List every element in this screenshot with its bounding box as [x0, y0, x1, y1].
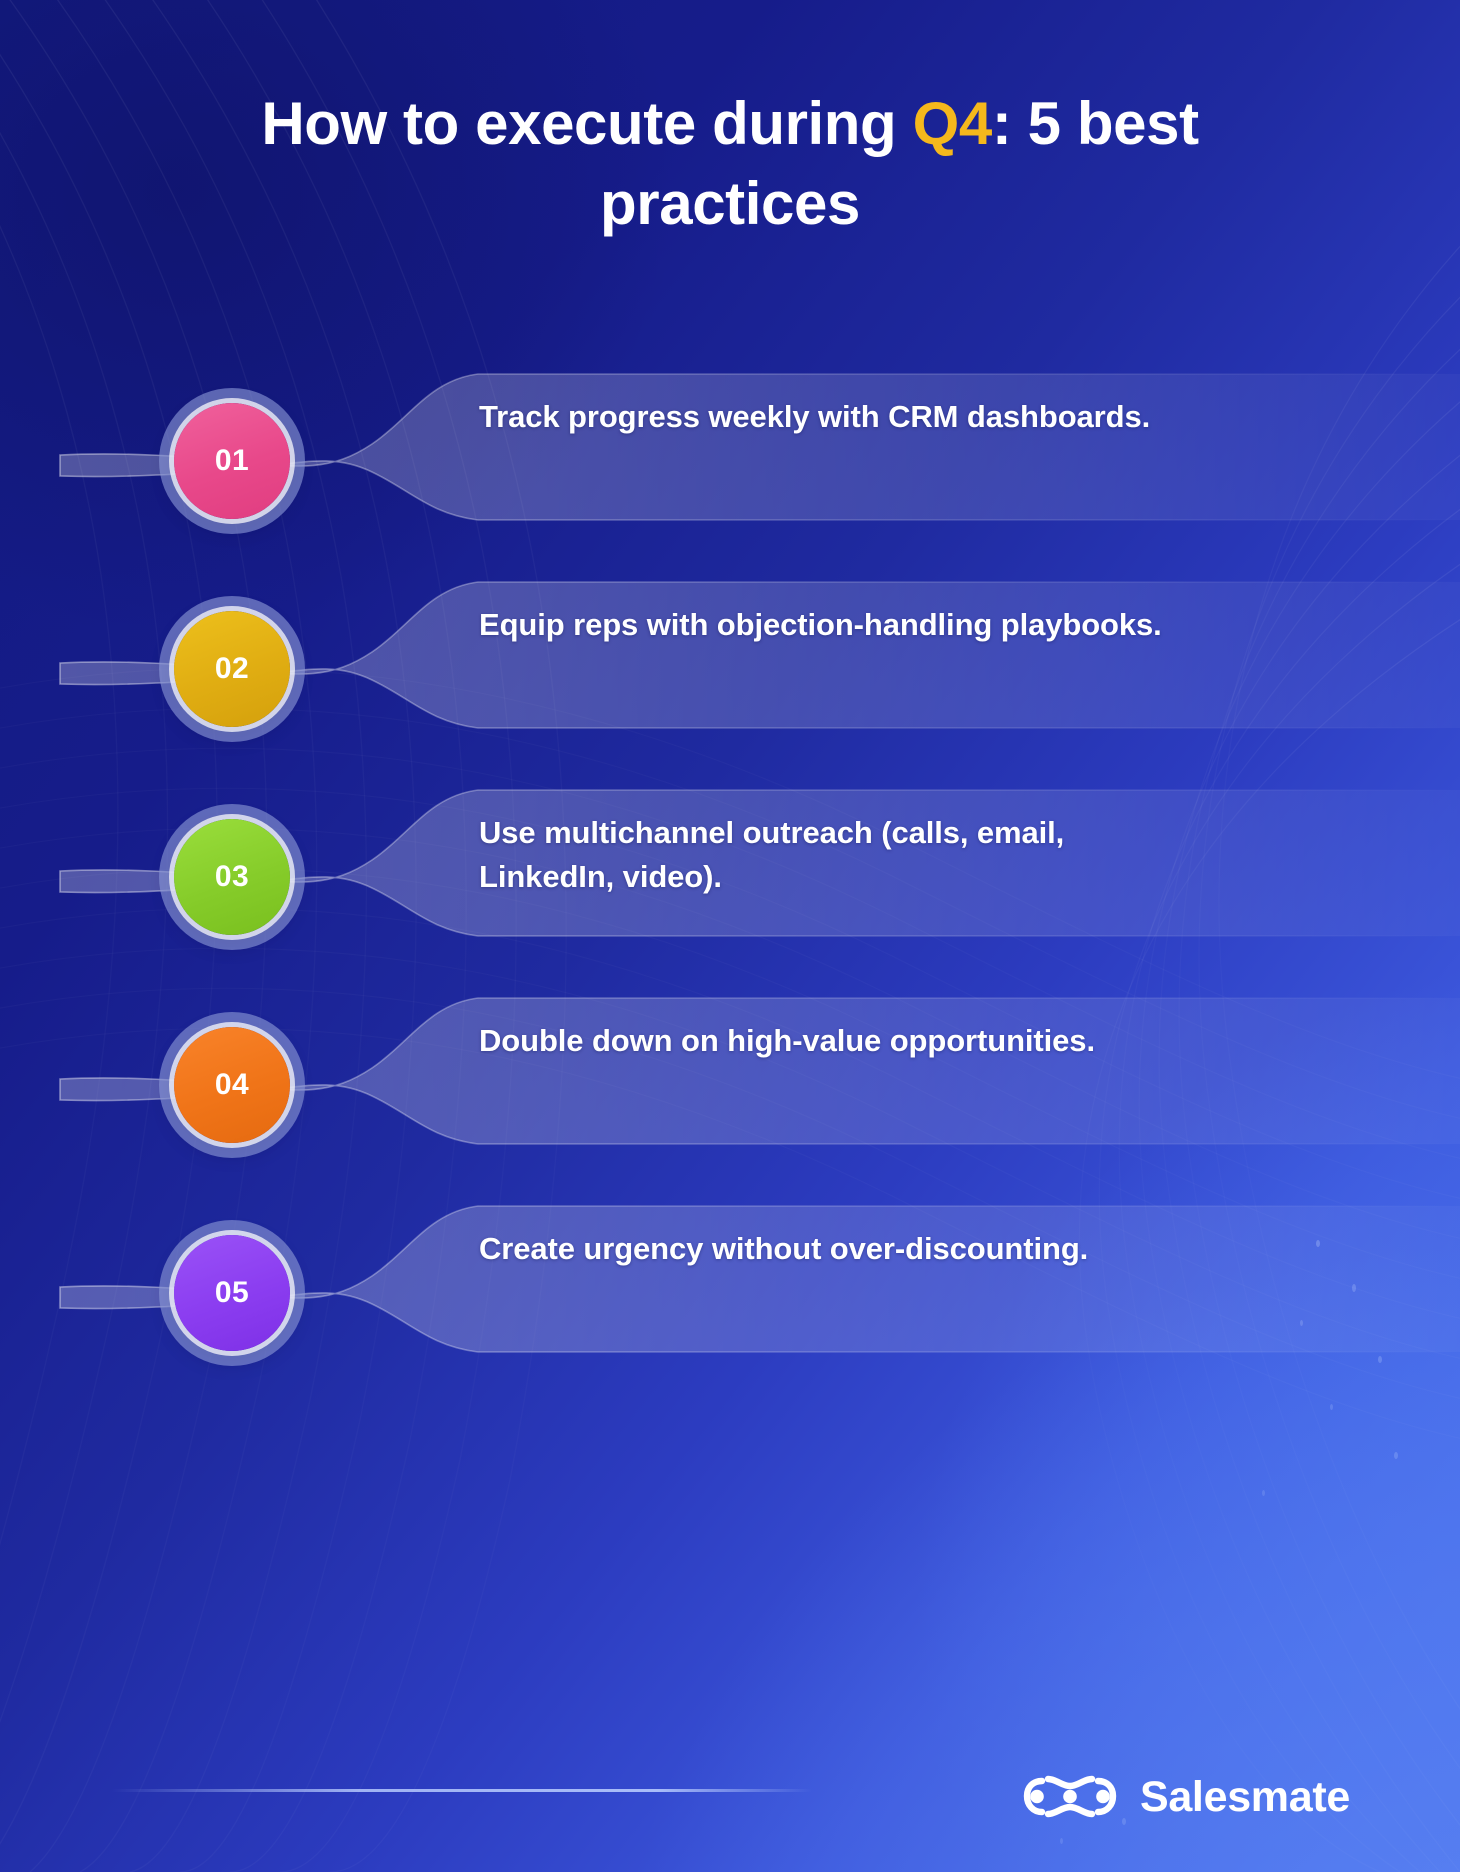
step-number-02: 02	[215, 652, 249, 686]
infographic-canvas: How to execute during Q4: 5 best practic…	[0, 0, 1460, 1872]
step-number-04: 04	[215, 1068, 249, 1102]
step-text-03: Use multichannel outreach (calls, email,…	[479, 811, 1179, 899]
step-badge-04[interactable]: 04	[174, 1027, 290, 1143]
step-text-02: Equip reps with objection-handling playb…	[479, 603, 1179, 647]
list-item[interactable]: 01 Track progress weekly with CRM dashbo…	[0, 360, 1460, 600]
step-badge-05[interactable]: 05	[174, 1235, 290, 1351]
step-number-05: 05	[215, 1276, 249, 1310]
step-number-01: 01	[215, 444, 249, 478]
list-item[interactable]: 05 Create urgency without over-discounti…	[0, 1192, 1460, 1432]
step-text-01: Track progress weekly with CRM dashboard…	[479, 395, 1179, 439]
step-text-05: Create urgency without over-discounting.	[479, 1227, 1179, 1271]
salesmate-chain-dots-logo-icon	[1022, 1770, 1118, 1824]
list-item[interactable]: 02 Equip reps with objection-handling pl…	[0, 568, 1460, 808]
step-text-04: Double down on high-value opportunities.	[479, 1019, 1179, 1063]
step-badge-01[interactable]: 01	[174, 403, 290, 519]
step-number-03: 03	[215, 860, 249, 894]
step-badge-02[interactable]: 02	[174, 611, 290, 727]
footer-divider	[112, 1789, 812, 1792]
list-item[interactable]: 03 Use multichannel outreach (calls, ema…	[0, 776, 1460, 1016]
list-item[interactable]: 04 Double down on high-value opportuniti…	[0, 984, 1460, 1224]
brand-logo[interactable]: Salesmate	[1022, 1770, 1350, 1824]
steps-list: 01 Track progress weekly with CRM dashbo…	[0, 0, 1460, 1872]
brand-name-text: Salesmate	[1140, 1773, 1350, 1822]
step-badge-03[interactable]: 03	[174, 819, 290, 935]
